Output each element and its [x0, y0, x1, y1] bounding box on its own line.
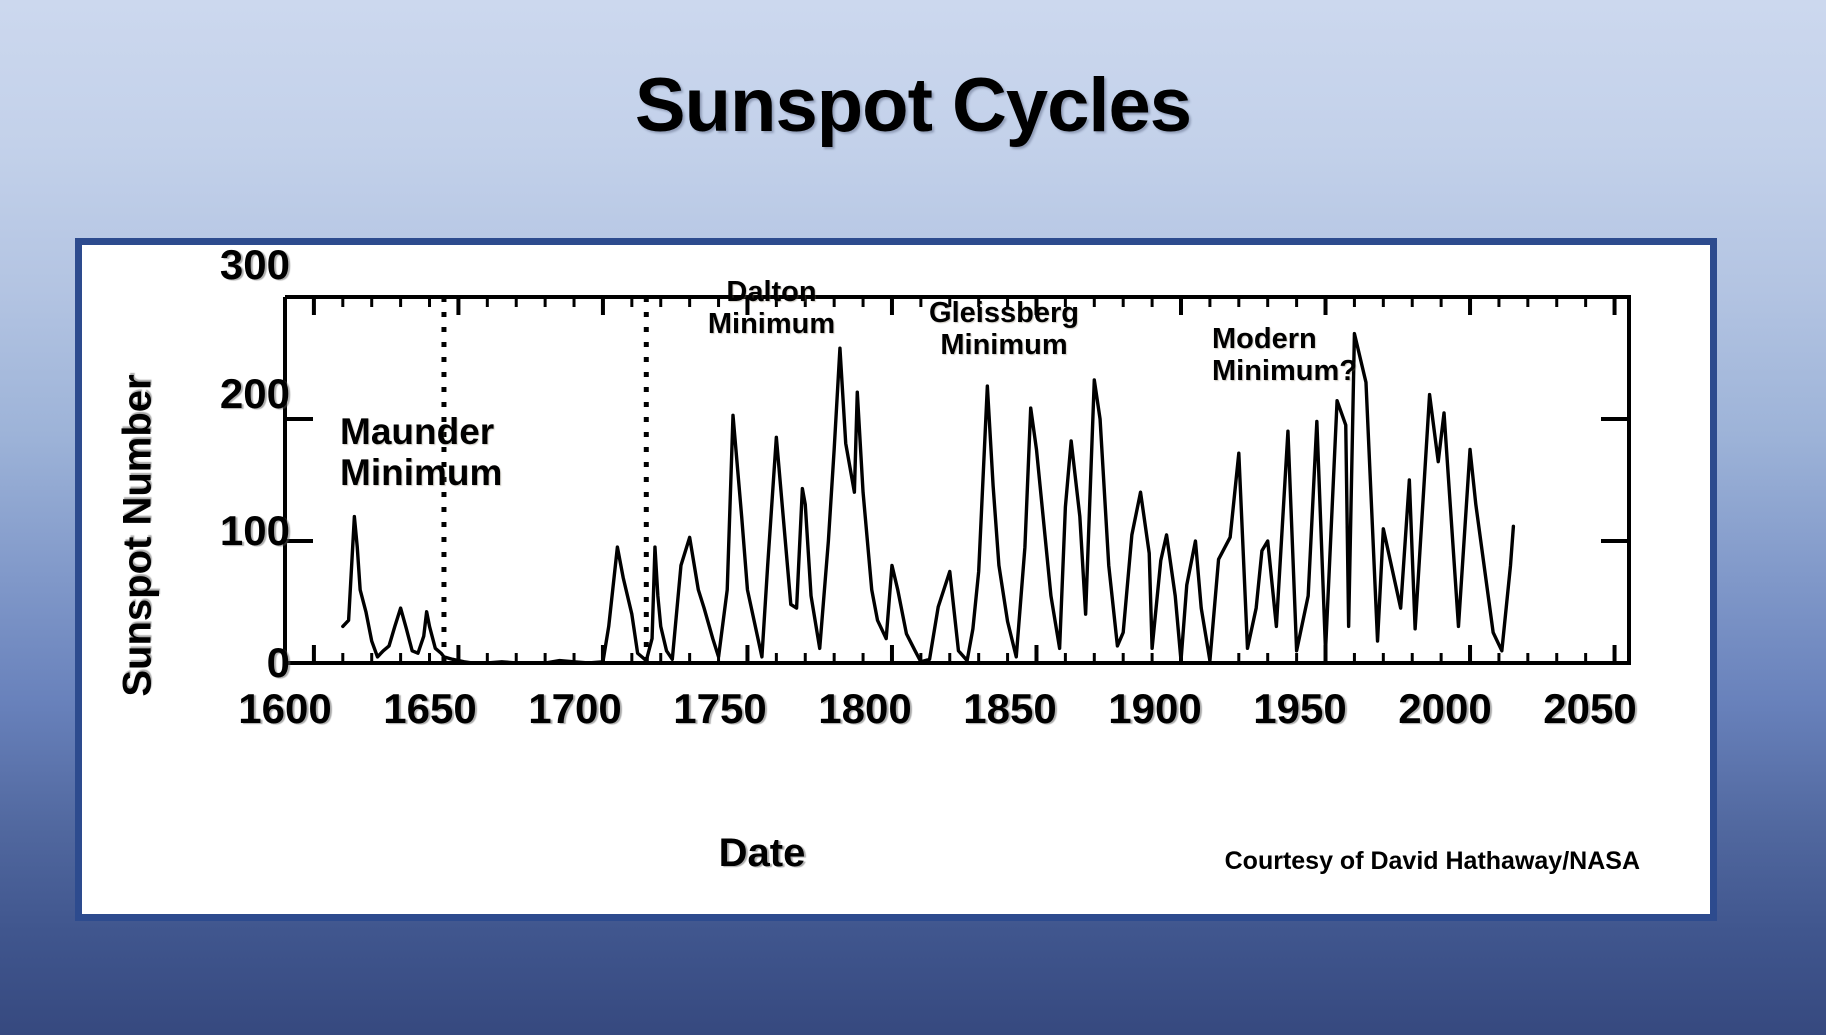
x-tick-label-2000: 2000 [1370, 685, 1520, 733]
annotation-maunder-line2: Minimum [340, 452, 502, 493]
x-tick-label-1900: 1900 [1080, 685, 1230, 733]
x-axis-major-ticks [314, 645, 1615, 663]
annotation-dalton: Dalton Minimum [689, 276, 854, 341]
x-tick-label-1850: 1850 [935, 685, 1085, 733]
annotation-gleissberg-line1: Gleissberg [904, 297, 1104, 329]
x-tick-label-1650: 1650 [355, 685, 505, 733]
sunspot-chart [82, 245, 1724, 928]
y-tick-label-0: 0 [160, 639, 290, 687]
x-tick-label-1950: 1950 [1225, 685, 1375, 733]
x-tick-label-1800: 1800 [790, 685, 940, 733]
slide-root: Sunspot Cycles Sunspot Number Date Court… [0, 0, 1826, 1035]
x-tick-label-1750: 1750 [645, 685, 795, 733]
y-axis-title: Sunspot Number [116, 356, 161, 716]
annotation-dalton-line1: Dalton [689, 276, 854, 308]
plot-area-wrapper: Sunspot Number Date Courtesy of David Ha… [82, 245, 1724, 928]
chart-panel: Sunspot Number Date Courtesy of David Ha… [75, 238, 1717, 921]
annotation-gleissberg-line2: Minimum [904, 329, 1104, 361]
annotation-modern: Modern Minimum? [1212, 323, 1402, 388]
annotation-modern-line1: Modern [1212, 323, 1402, 355]
x-tick-label-1600: 1600 [210, 685, 360, 733]
y-tick-label-200: 200 [160, 370, 290, 418]
annotation-modern-line2: Minimum? [1212, 355, 1402, 387]
annotation-gleissberg: Gleissberg Minimum [904, 297, 1104, 362]
x-tick-label-1700: 1700 [500, 685, 650, 733]
page-title: Sunspot Cycles [0, 62, 1826, 149]
y-tick-label-300: 300 [160, 241, 290, 289]
annotation-maunder-line1: Maunder [340, 411, 502, 452]
y-tick-label-100: 100 [160, 507, 290, 555]
x-tick-label-2050: 2050 [1515, 685, 1665, 733]
annotation-dalton-line2: Minimum [689, 308, 854, 340]
credit-text: Courtesy of David Hathaway/NASA [962, 847, 1662, 876]
annotation-maunder: Maunder Minimum [340, 411, 502, 494]
x-axis-title: Date [642, 831, 882, 876]
